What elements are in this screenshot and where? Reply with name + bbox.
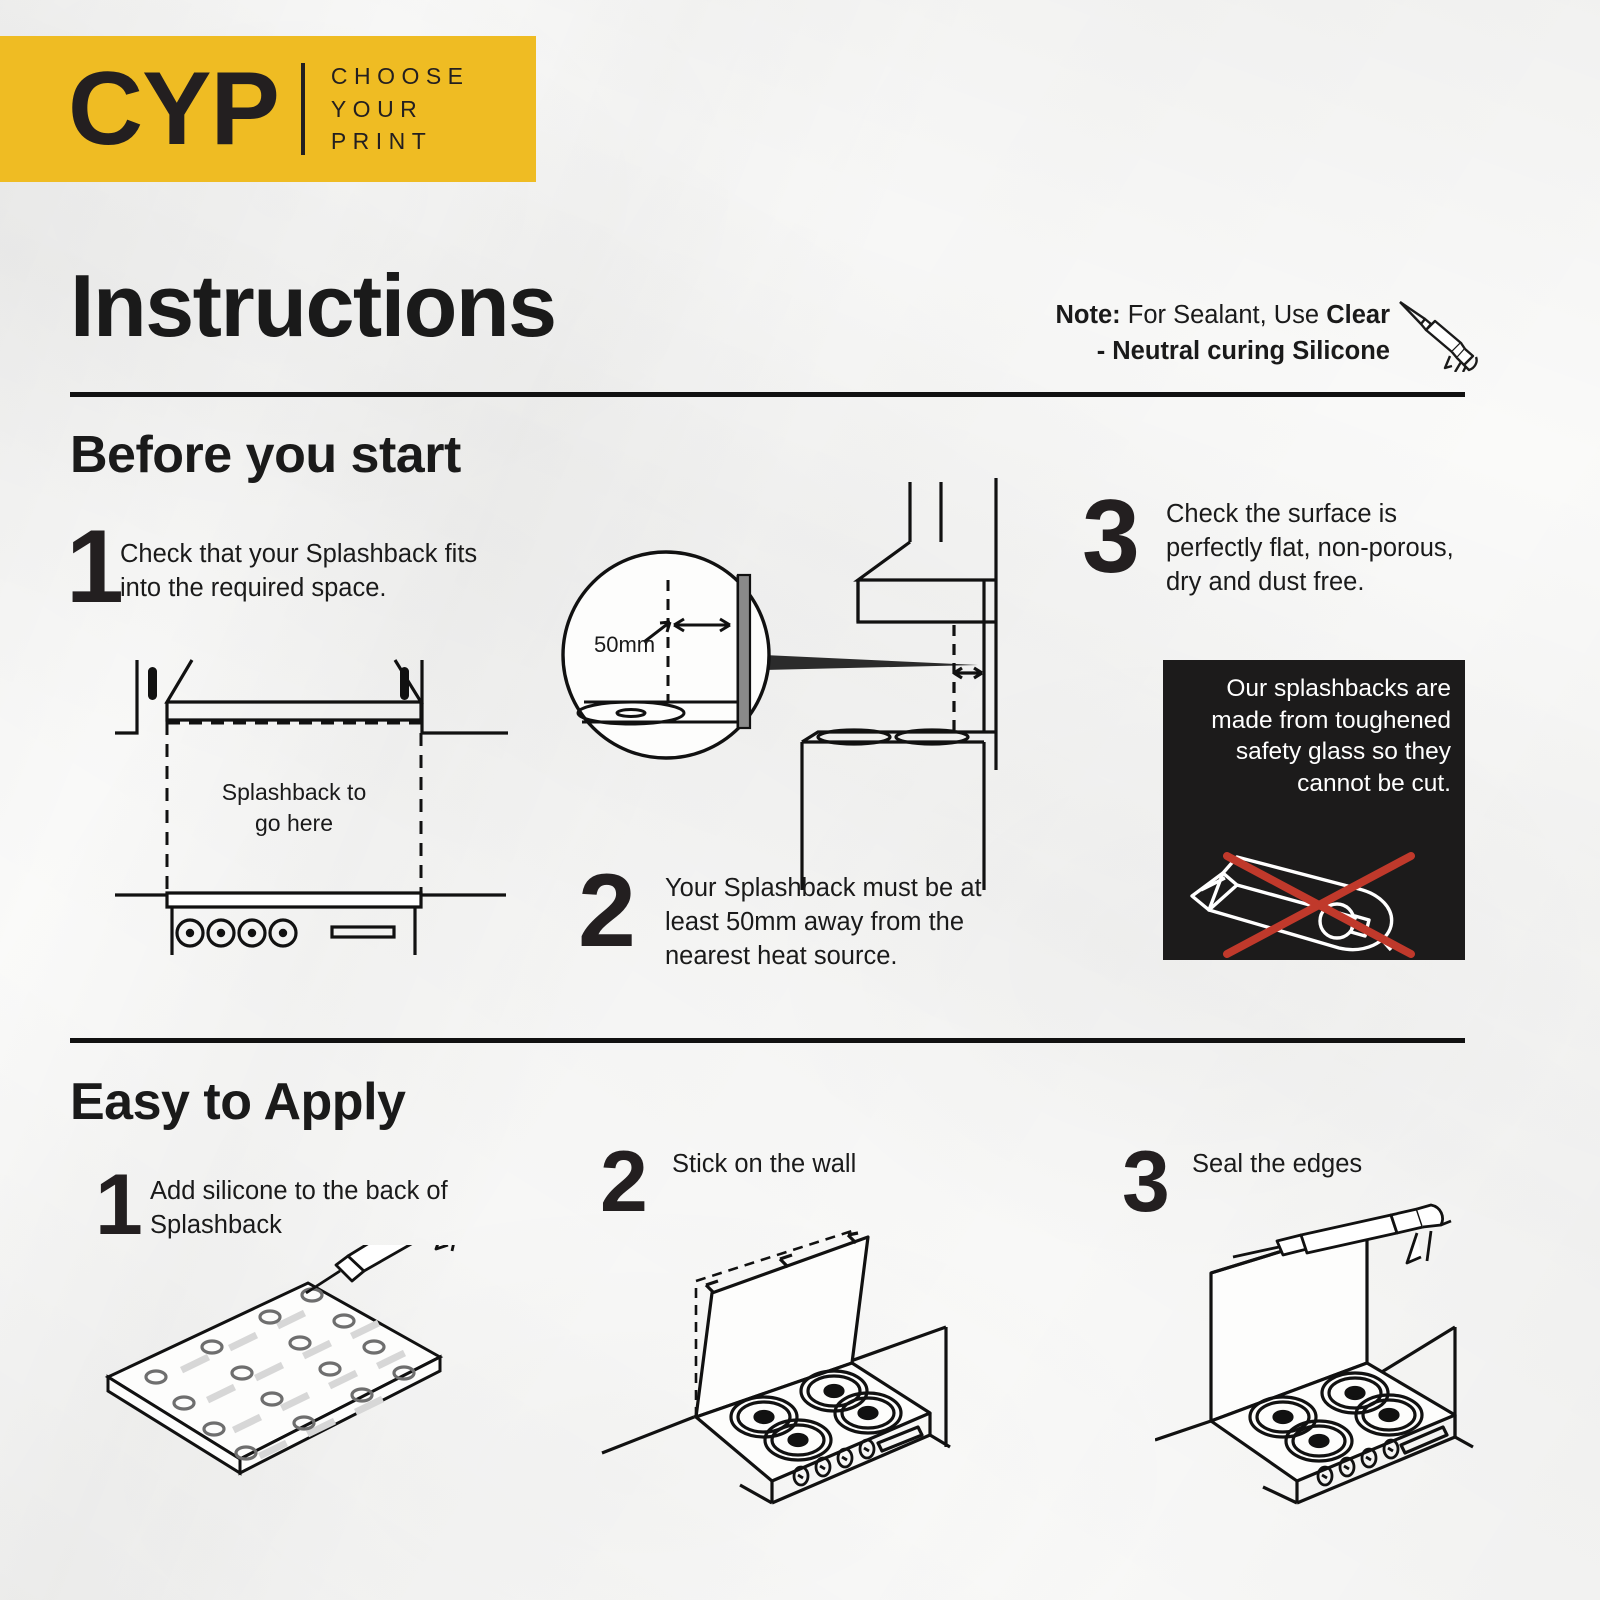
step-text-1-apply: Add silicone to the back of Splashback bbox=[150, 1175, 450, 1243]
hob-clearance-detail-magnifier: 50mm bbox=[548, 470, 1028, 890]
section-divider-top bbox=[70, 392, 1465, 397]
warning-box-cannot-be-cut: Our splashbacks are made from toughened … bbox=[1163, 660, 1465, 960]
caulking-gun-icon bbox=[1395, 296, 1481, 372]
note-line1-rest: For Sealant, Use bbox=[1121, 301, 1327, 329]
tagline-line-2: YOUR bbox=[331, 93, 470, 126]
brand-logo-text: CYP bbox=[68, 57, 279, 161]
logo-divider-rule bbox=[301, 63, 305, 155]
clearance-label: 50mm bbox=[594, 632, 655, 657]
brand-tagline: CHOOSE YOUR PRINT bbox=[331, 60, 470, 158]
section-heading-before-you-start: Before you start bbox=[70, 425, 461, 485]
note-line1-bold: Clear bbox=[1326, 301, 1390, 329]
kitchen-elevation-splashback-area: Splashback to go here bbox=[110, 645, 510, 955]
brand-logo-band: CYP CHOOSE YOUR PRINT bbox=[0, 36, 536, 182]
note-line2-text: - Neutral curing Silicone bbox=[1097, 337, 1390, 365]
sealant-note-line-2: - Neutral curing Silicone bbox=[960, 333, 1390, 369]
step-text-2-apply: Stick on the wall bbox=[672, 1148, 972, 1182]
step-text-1-before: Check that your Splashback fits into the… bbox=[120, 538, 490, 606]
step-number-1-before: 1 bbox=[66, 522, 124, 614]
hob-panel-placement-isometric bbox=[590, 1185, 1040, 1525]
step-number-1-apply: 1 bbox=[95, 1168, 143, 1244]
warning-text: Our splashbacks are made from toughened … bbox=[1176, 673, 1451, 799]
section-divider-bottom bbox=[70, 1038, 1465, 1043]
note-label: Note: bbox=[1056, 301, 1121, 329]
utility-knife-crossed-out-icon bbox=[1179, 838, 1481, 960]
sealant-note-line-1: Note: For Sealant, Use Clear bbox=[960, 297, 1390, 333]
splashback-placeholder-line-1: Splashback to bbox=[222, 779, 366, 805]
tagline-line-1: CHOOSE bbox=[331, 60, 470, 93]
page-title: Instructions bbox=[70, 262, 556, 350]
step-number-3-before: 3 bbox=[1082, 492, 1140, 584]
section-heading-easy-to-apply: Easy to Apply bbox=[70, 1072, 405, 1132]
tagline-line-3: PRINT bbox=[331, 125, 470, 158]
sealant-note: Note: For Sealant, Use Clear - Neutral c… bbox=[960, 297, 1390, 369]
hob-edge-sealing-isometric bbox=[1155, 1185, 1600, 1525]
step-text-3-before: Check the surface is perfectly flat, non… bbox=[1166, 498, 1466, 600]
splashback-placeholder-line-2: go here bbox=[255, 810, 333, 836]
splashback-silicone-dots-panel bbox=[100, 1245, 520, 1505]
step-text-3-apply: Seal the edges bbox=[1192, 1148, 1492, 1182]
